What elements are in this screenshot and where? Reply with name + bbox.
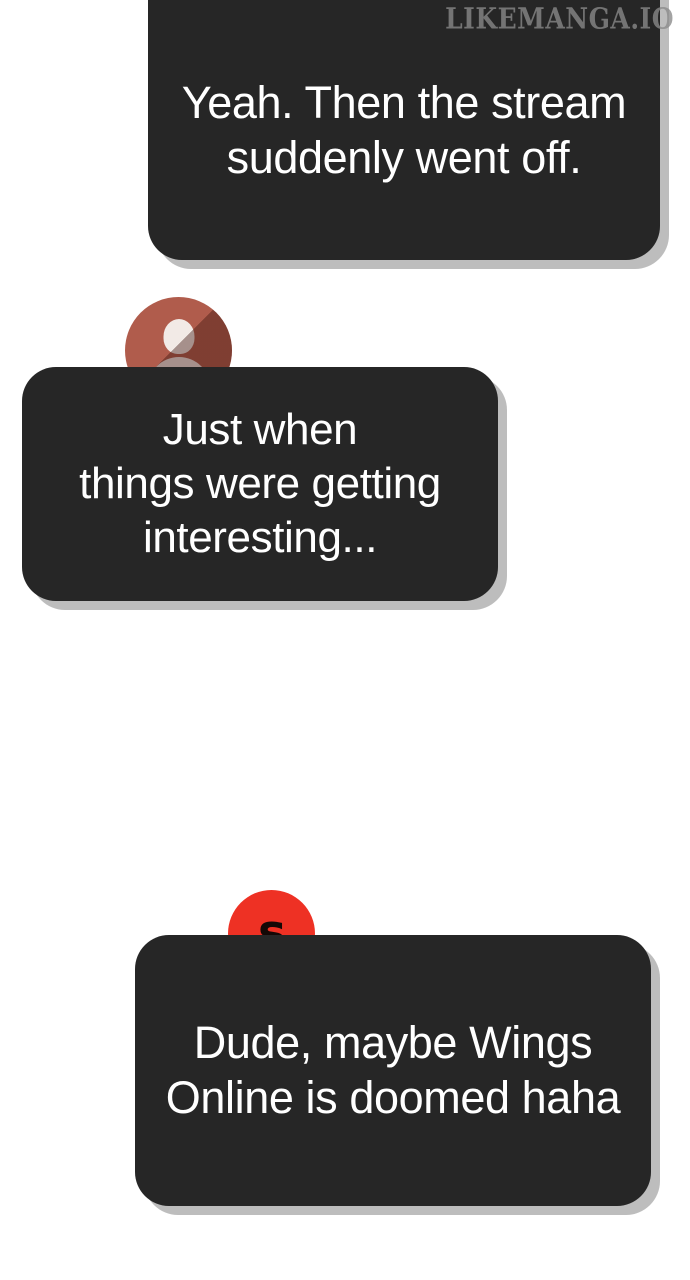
speech-bubble-1: Yeah. Then the stream suddenly went off. xyxy=(148,0,660,260)
speech-bubble-2-text: Just when things were getting interestin… xyxy=(61,403,459,564)
speech-bubble-1-text: Yeah. Then the stream suddenly went off. xyxy=(164,22,644,186)
speech-bubble-2: Just when things were getting interestin… xyxy=(22,367,498,601)
site-watermark: LIKEMANGA.IO xyxy=(445,2,674,35)
speech-bubble-3-text: Dude, maybe Wings Online is doomed haha xyxy=(148,1016,638,1126)
speech-bubble-3: Dude, maybe Wings Online is doomed haha xyxy=(135,935,651,1206)
comic-panel: Yeah. Then the stream suddenly went off.… xyxy=(0,0,690,1280)
